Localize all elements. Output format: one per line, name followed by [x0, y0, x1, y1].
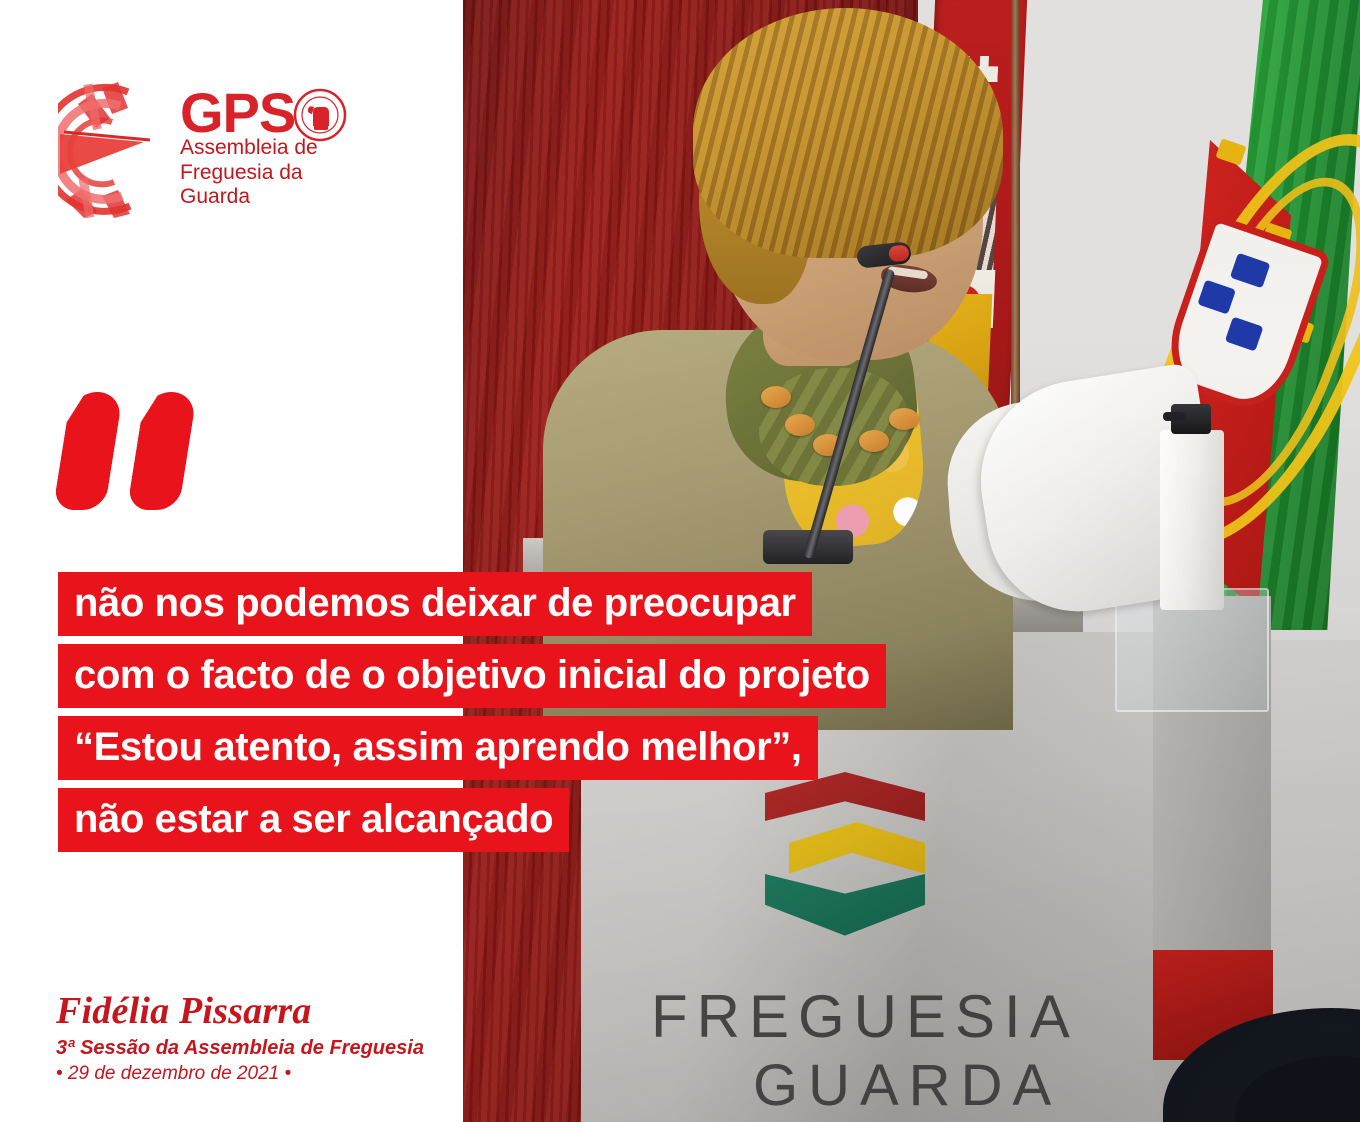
quote-card: FREGUESIA GUARDA	[0, 0, 1360, 1122]
quote-line-row: com o facto de o objetivo inicial do pro…	[58, 644, 886, 708]
hand-sanitizer-icon	[1160, 430, 1224, 610]
quote-line-row: “Estou atento, assim aprendo melhor”,	[58, 716, 886, 780]
quote-line: não estar a ser alcançado	[58, 788, 569, 852]
attribution: Fidélia Pissarra 3ª Sessão da Assembleia…	[56, 992, 424, 1085]
logo-acronym: GPS	[180, 88, 295, 138]
quote-line: “Estou atento, assim aprendo melhor”,	[58, 716, 818, 780]
quote-line: com o facto de o objetivo inicial do pro…	[58, 644, 886, 708]
speaker-photo: FREGUESIA GUARDA	[463, 0, 1360, 1122]
quotation-mark-icon	[62, 392, 212, 514]
podium-text-freguesia: FREGUESIA	[651, 982, 1079, 1051]
sanitizer-nozzle	[1163, 412, 1185, 421]
logo-subtitle-line1: Assembleia de	[180, 136, 378, 160]
date-label: • 29 de dezembro de 2021 •	[56, 1063, 424, 1085]
quote-line-row: não nos podemos deixar de preocupar	[58, 572, 886, 636]
speaker-name: Fidélia Pissarra	[56, 992, 424, 1032]
podium-text-guarda: GUARDA	[753, 1052, 1061, 1119]
quote-block: não nos podemos deixar de preocupar com …	[58, 572, 886, 860]
logo-subtitle-line2: Freguesia da Guarda	[180, 161, 378, 209]
gps-logo: GPS Assembleia de Freguesia da Guarda	[58, 78, 378, 218]
gps-radial-logo-icon	[58, 78, 176, 218]
quote-line-row: não estar a ser alcançado	[58, 788, 886, 852]
session-label: 3ª Sessão da Assembleia de Freguesia	[56, 1037, 424, 1060]
quote-line: não nos podemos deixar de preocupar	[58, 572, 812, 636]
speaker-hair	[693, 8, 1003, 258]
partido-socialista-fist-icon	[293, 88, 347, 142]
